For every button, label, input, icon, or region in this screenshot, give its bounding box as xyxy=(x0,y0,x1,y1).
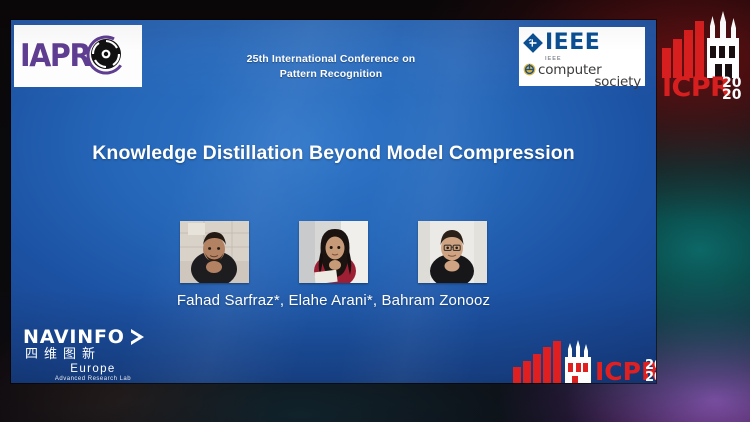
page-title: Knowledge Distillation Beyond Model Comp… xyxy=(11,142,656,165)
icpr-corner-year-bottom: 20 xyxy=(722,87,742,100)
icpr-corner-bars-icon xyxy=(662,21,704,78)
ieee-wordmark: IEEE xyxy=(545,32,600,54)
icpr-footer-year-bottom: 20 xyxy=(645,370,656,383)
ieee-society-line1: computer xyxy=(538,63,602,77)
computer-society-mark-icon xyxy=(523,63,536,76)
navinfo-region: Europe xyxy=(23,363,163,375)
navinfo-unit: Advanced Research Lab xyxy=(23,376,163,382)
icpr-corner-wordmark: ICPR xyxy=(662,72,731,100)
slide-header: IAPR 25th xyxy=(11,20,656,94)
presentation-video-frame: IAPR 25th xyxy=(0,0,750,422)
navinfo-wordmark: NAVINFO xyxy=(23,328,125,347)
presentation-slide: IAPR 25th xyxy=(11,20,656,383)
portrait-elahe-arani xyxy=(299,221,368,283)
duomo-silhouette-icon xyxy=(565,340,591,383)
iapr-wordmark: IAPR xyxy=(20,41,90,72)
navinfo-logo: NAVINFO 四维图新 Europe Advanced Research La… xyxy=(23,327,198,383)
navinfo-chinese-name: 四维图新 xyxy=(23,348,198,362)
icpr-corner-duomo-icon xyxy=(707,11,739,78)
portrait-bahram-zonooz xyxy=(418,221,487,283)
conference-title-line1: 25th International Conference on xyxy=(151,52,511,67)
conference-title: 25th International Conference on Pattern… xyxy=(151,52,511,82)
navinfo-top-row: NAVINFO xyxy=(23,327,198,347)
author-list: Fahad Sarfraz*, Elahe Arani*, Bahram Zon… xyxy=(11,292,656,309)
navinfo-chevron-icon xyxy=(128,327,148,347)
conference-title-line2: Pattern Recognition xyxy=(151,67,511,82)
iapr-spiral-emblem xyxy=(84,34,129,79)
ieee-diamond-icon xyxy=(523,33,543,53)
iapr-logo: IAPR xyxy=(14,25,142,87)
ieee-computer-society-logo: IEEE IEEE computer society xyxy=(519,27,645,86)
icpr-logo-footer: ICPR 20 20 xyxy=(511,333,656,383)
author-portrait-row xyxy=(11,221,656,287)
icpr-logo-corner: ICPR 20 20 xyxy=(660,8,746,105)
icpr-bars-icon xyxy=(513,341,561,383)
ieee-top-row: IEEE xyxy=(523,30,641,56)
portrait-fahad-sarfraz xyxy=(180,221,249,283)
